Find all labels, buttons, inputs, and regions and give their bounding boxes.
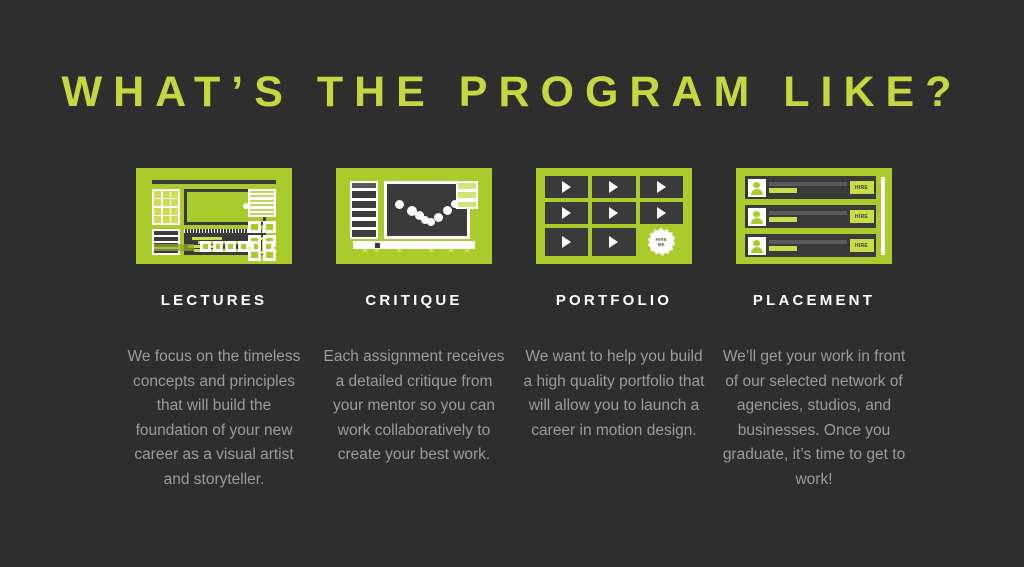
hire-button[interactable]: HIRE: [850, 181, 874, 194]
play-icon: [562, 181, 571, 193]
transport-button[interactable]: [200, 241, 211, 252]
column-heading: PLACEMENT: [753, 292, 875, 309]
play-icon: [657, 207, 666, 219]
video-thumbnail[interactable]: [545, 228, 588, 256]
properties-panel: [456, 181, 478, 209]
transport-button[interactable]: [213, 241, 224, 252]
feature-column-critique: CRITIQUE Each assignment receives a deta…: [324, 168, 504, 493]
timeline-scrubber[interactable]: [353, 241, 475, 249]
video-grid-illustration: HIRE ME: [536, 168, 692, 264]
keyframe-dot: [395, 200, 404, 209]
column-body-text: We want to help you build a high quality…: [522, 345, 707, 443]
keyframe-dot: [434, 213, 443, 222]
slide-canvas: WHAT’S THE PROGRAM LIKE?: [0, 0, 1024, 567]
column-heading: PORTFOLIO: [556, 292, 672, 309]
video-thumbnail[interactable]: [640, 202, 683, 224]
project-thumbnails-panel: [152, 189, 180, 225]
effects-properties-panel: [248, 189, 276, 217]
column-body-text: We focus on the timeless concepts and pr…: [122, 345, 307, 493]
play-icon: [657, 181, 666, 193]
tool-button[interactable]: [263, 221, 276, 233]
transport-button[interactable]: [251, 241, 262, 252]
feature-column-placement: HIRE HIRE: [724, 168, 904, 493]
starburst-icon: HIRE ME: [647, 228, 675, 256]
hire-button-label: HIRE: [855, 214, 868, 220]
layer-stack-panel: [350, 181, 378, 239]
person-avatar-icon: [748, 237, 766, 255]
graph-editor-illustration: [336, 168, 492, 264]
listings-container: HIRE HIRE: [745, 176, 876, 256]
listing-text-lines: [769, 182, 847, 194]
video-thumbnail-grid: HIRE ME: [545, 176, 683, 256]
hire-button-label: HIRE: [855, 243, 868, 249]
feature-columns: LECTURES We focus on the timeless concep…: [124, 168, 904, 493]
badge-line-2: ME: [658, 242, 665, 247]
listing-text-lines: [769, 211, 847, 223]
column-body-text: We’ll get your work in front of our sele…: [722, 345, 907, 493]
tool-button[interactable]: [248, 221, 261, 233]
video-thumbnail[interactable]: [592, 202, 635, 224]
video-thumbnail[interactable]: [545, 176, 588, 198]
app-menubar: [152, 180, 276, 184]
play-icon: [609, 207, 618, 219]
timeline-layer-bar: [192, 237, 222, 240]
listing-text-lines: [769, 240, 847, 252]
app-logo: [154, 244, 194, 251]
app-window: [144, 175, 284, 257]
scrubber-handle[interactable]: [375, 243, 380, 248]
person-avatar-icon: [748, 208, 766, 226]
job-listings-illustration: HIRE HIRE: [736, 168, 892, 264]
hire-button-label: HIRE: [855, 185, 868, 191]
app-window: [343, 174, 485, 258]
column-heading: LECTURES: [161, 292, 267, 309]
transport-button[interactable]: [263, 241, 274, 252]
hire-button[interactable]: HIRE: [850, 210, 874, 223]
play-icon: [609, 181, 618, 193]
video-thumbnail[interactable]: [592, 228, 635, 256]
video-thumbnail[interactable]: [545, 202, 588, 224]
column-body-text: Each assignment receives a detailed crit…: [322, 345, 507, 468]
listing-row[interactable]: HIRE: [745, 176, 876, 199]
play-icon: [609, 236, 618, 248]
transport-button-row[interactable]: [200, 241, 274, 252]
keyframe-dot: [443, 206, 452, 215]
listing-row[interactable]: HIRE: [745, 205, 876, 228]
column-heading: CRITIQUE: [365, 292, 462, 309]
video-thumbnail[interactable]: [592, 176, 635, 198]
scrollbar[interactable]: [881, 177, 885, 255]
hire-button[interactable]: HIRE: [850, 239, 874, 252]
feature-column-portfolio: HIRE ME PORTFOLIO We want to help you bu…: [524, 168, 704, 493]
feature-column-lectures: LECTURES We focus on the timeless concep…: [124, 168, 304, 493]
hire-me-badge[interactable]: HIRE ME: [640, 228, 683, 256]
layers-list-panel: [152, 229, 180, 255]
transport-button[interactable]: [225, 241, 236, 252]
person-avatar-icon: [748, 179, 766, 197]
editing-app-illustration: [136, 168, 292, 264]
transport-button[interactable]: [238, 241, 249, 252]
play-icon: [562, 207, 571, 219]
video-thumbnail[interactable]: [640, 176, 683, 198]
page-title: WHAT’S THE PROGRAM LIKE?: [0, 68, 1024, 117]
play-icon: [562, 236, 571, 248]
graph-canvas: [387, 184, 467, 236]
listing-row[interactable]: HIRE: [745, 234, 876, 257]
